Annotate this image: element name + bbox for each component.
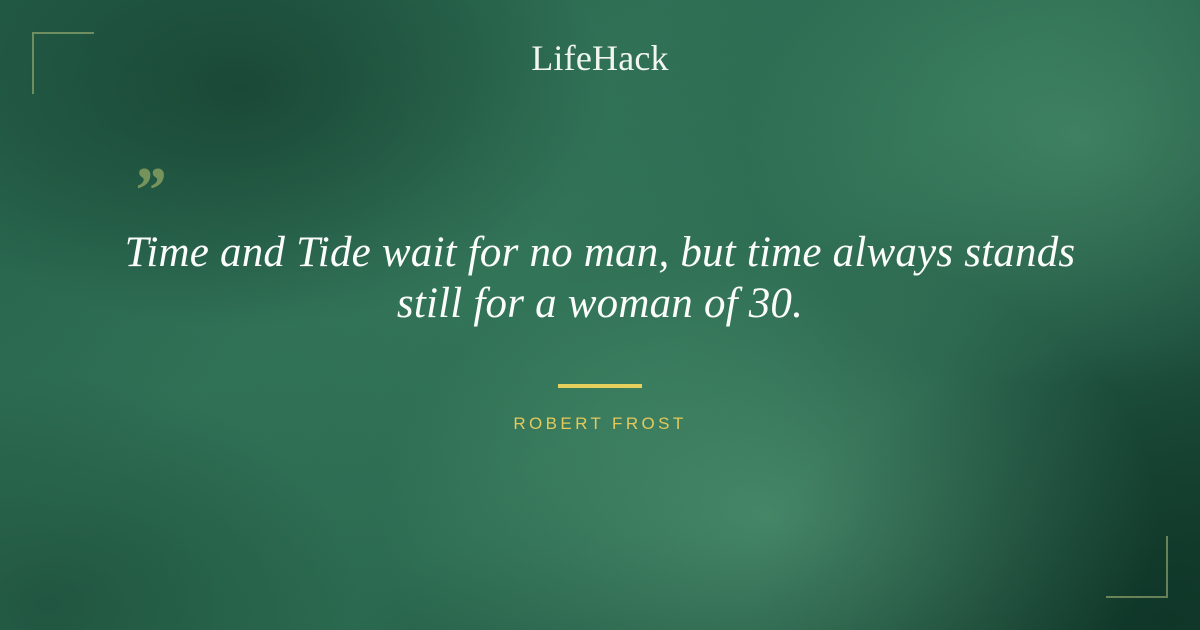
quote-text: Time and Tide wait for no man, but time … xyxy=(92,228,1108,329)
quote-block: ” Time and Tide wait for no man, but tim… xyxy=(0,150,1200,329)
quote-card: LifeHack ” Time and Tide wait for no man… xyxy=(0,0,1200,630)
quote-line-2: for a woman of 30. xyxy=(473,280,803,327)
author-name: ROBERT FROST xyxy=(0,414,1200,434)
quotation-mark-icon: ” xyxy=(132,158,165,224)
corner-bracket-bottom-right xyxy=(1106,536,1168,598)
brand-logo: LifeHack xyxy=(0,40,1200,76)
attribution-divider xyxy=(558,384,642,388)
